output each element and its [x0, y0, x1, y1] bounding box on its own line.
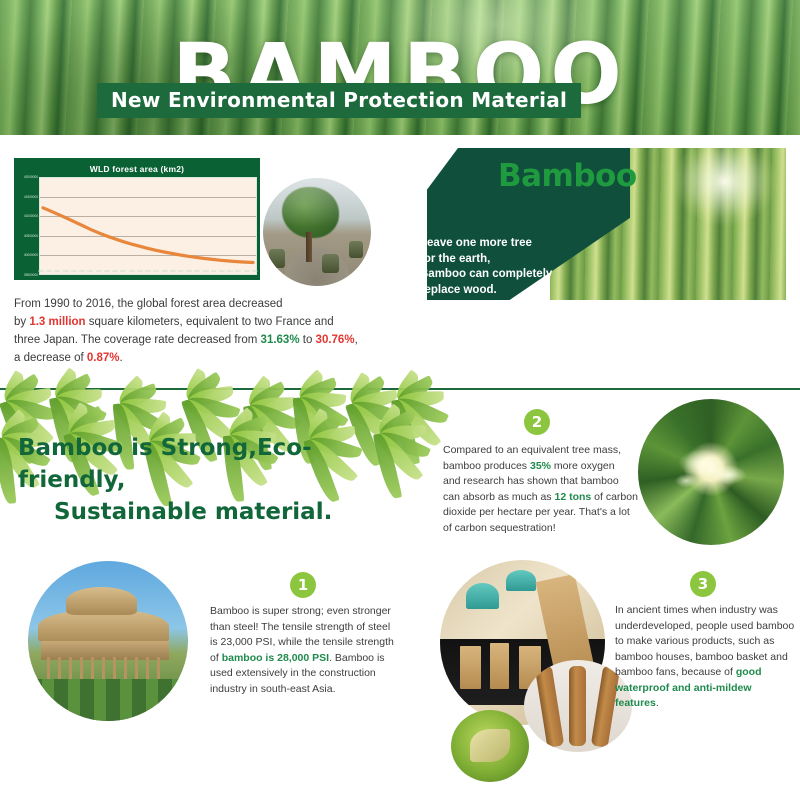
bamboo-leaf [398, 391, 444, 407]
para-line-3-pre: three Japan. The coverage rate decreased… [14, 334, 261, 346]
chart-x-tick: 2010 [203, 270, 208, 273]
forest-loss-section: WLD forest area (km2) 420000004150000041… [0, 135, 800, 380]
b1-l3: is 23,000 PSI, while the tensile strengt… [210, 636, 394, 648]
highlight-good: good [736, 666, 762, 678]
b3-l1: In ancient times when industry was [615, 604, 778, 616]
stat-co2: 12 tons [554, 491, 591, 503]
chart-x-tick: 2014 [236, 270, 241, 273]
chart-y-tick: 41000000 [24, 214, 38, 218]
bamboo-house-image [28, 561, 188, 721]
chart-x-tick: 1992 [55, 270, 60, 273]
bamboo-leaf [348, 376, 389, 410]
chart-x-axis: 1990199119921993199419951996199719981999… [37, 269, 259, 280]
bamboo-leaf [4, 394, 59, 425]
b2-l2b: more oxygen [551, 460, 615, 472]
infographic-page: BAMBOO New Environmental Protection Mate… [0, 0, 800, 800]
forest-loss-paragraph: From 1990 to 2016, the global forest are… [14, 295, 404, 367]
chart-y-tick: 40000000 [24, 253, 38, 257]
chart-x-tick: 2016 [252, 270, 257, 273]
bamboo-leaf [244, 376, 275, 411]
banner-line-2: for the earth, [420, 253, 490, 265]
para-line-1: From 1990 to 2016, the global forest are… [14, 298, 283, 310]
chart-x-tick: 2001 [129, 270, 134, 273]
stat-decrease: 0.87% [87, 352, 120, 364]
b3-l2: underdeveloped, people used bamboo [615, 620, 794, 632]
b2-l4a: can absorb as much as [443, 491, 554, 503]
stat-million: 1.3 million [29, 316, 85, 328]
b1-l4b: . Bamboo is [329, 652, 384, 664]
b1-l6: industry in south-east Asia. [210, 683, 335, 695]
para-line-3-mid: to [300, 334, 316, 346]
chart-x-tick: 2013 [227, 270, 232, 273]
chart-x-tick: 1991 [46, 270, 51, 273]
b2-l1: Compared to an equivalent tree mass, [443, 444, 621, 456]
chart-x-tick: 2009 [195, 270, 200, 273]
bamboo-leaf [250, 397, 296, 413]
b2-l6: of carbon sequestration! [443, 522, 556, 534]
chart-x-tick: 2007 [178, 270, 183, 273]
bamboo-cane [535, 665, 564, 748]
chart-x-tick: 1990 [38, 270, 43, 273]
headline-line-2: Sustainable material. [18, 496, 408, 528]
chart-line-series [40, 178, 256, 274]
b3-l3: to make various products, such as [615, 635, 774, 647]
bamboo-leaf [119, 396, 166, 416]
bamboo-leaf [247, 381, 288, 412]
woven-basket [466, 583, 499, 609]
replace-wood-banner: Bamboo Leave one more tree for the earth… [415, 148, 786, 300]
banner-line-1: Leave one more tree [420, 237, 532, 249]
chart-x-tick: 1999 [112, 270, 117, 273]
bamboo-leaf [0, 437, 16, 505]
bamboo-leaf [186, 392, 241, 423]
chart-x-tick: 2012 [219, 270, 224, 273]
bamboo-box [490, 643, 510, 689]
bamboo-leaf [115, 375, 148, 408]
para-line-4-pre: a decrease of [14, 352, 87, 364]
chart-y-tick: 39500000 [24, 273, 38, 277]
bamboo-box [460, 646, 481, 689]
para-line-2-post: square kilometers, equivalent to two Fra… [86, 316, 334, 328]
chart-x-tick: 2004 [153, 270, 158, 273]
bamboo-cane [569, 666, 586, 747]
woven-basket [506, 570, 536, 591]
b3-l5a: bamboo fans, because of [615, 666, 736, 678]
number-badge-1: 1 [290, 572, 316, 598]
bamboo-canopy-image [638, 399, 784, 545]
bamboo-leaf [247, 399, 301, 435]
chart-x-tick: 1997 [96, 270, 101, 273]
chart-body: 4200000041500000410000004050000040000000… [17, 177, 257, 275]
bamboo-leaf [351, 390, 398, 411]
b3-l4: bamboo houses, bamboo basket and [615, 651, 788, 663]
b1-l1: Bamboo is super strong; even stronger [210, 605, 391, 617]
banner-bamboo-word: Bamboo [498, 158, 637, 194]
stat-coverage-to: 30.76% [316, 334, 355, 346]
block-2-text: Compared to an equivalent tree mass, bam… [443, 443, 639, 536]
chart-x-tick: 2003 [145, 270, 150, 273]
b1-l4a: of [210, 652, 222, 664]
section-headline: Bamboo is Strong,Eco-friendly, Sustainab… [18, 432, 408, 528]
highlight-waterproof: waterproof and anti-mildew features [615, 682, 752, 710]
lone-tree-image [263, 178, 371, 286]
para-line-2-pre: by [14, 316, 29, 328]
chart-x-tick: 2008 [186, 270, 191, 273]
chart-y-axis: 4200000041500000410000004050000040000000… [17, 177, 39, 275]
chart-plot-area [39, 177, 257, 275]
chart-y-tick: 40500000 [24, 234, 38, 238]
para-line-3-post: , [355, 334, 358, 346]
garden-hedge [28, 679, 188, 721]
chart-y-tick: 41500000 [24, 195, 38, 199]
image-haze-overlay [263, 178, 371, 286]
chart-x-tick: 2006 [170, 270, 175, 273]
chart-x-tick: 1995 [79, 270, 84, 273]
chart-x-tick: 2000 [120, 270, 125, 273]
block-3-text: In ancient times when industry was under… [615, 603, 797, 712]
banner-line-4: replace wood. [420, 284, 497, 296]
chart-title: WLD forest area (km2) [17, 161, 257, 177]
bamboo-leaf [56, 389, 102, 405]
banner-line-3: Bamboo can completely [420, 268, 552, 280]
b2-l3: and research has shown that bamboo [443, 475, 619, 487]
bamboo-leaf [350, 396, 405, 427]
chart-x-tick: 2011 [211, 270, 216, 273]
chart-x-tick: 2005 [162, 270, 167, 273]
bamboo-leaf [53, 391, 107, 427]
number-badge-3: 3 [690, 571, 716, 597]
house-roof-upper [66, 587, 136, 616]
chart-y-tick: 42000000 [24, 175, 38, 179]
chart-x-tick: 1998 [104, 270, 109, 273]
bamboo-leaf [5, 388, 52, 409]
chart-x-tick: 2015 [244, 270, 249, 273]
b3-l6b: . [656, 697, 659, 709]
chart-x-tick: 2002 [137, 270, 142, 273]
shoot-body [470, 729, 511, 762]
hero-banner: BAMBOO New Environmental Protection Mate… [0, 0, 800, 135]
number-badge-2: 2 [524, 409, 550, 435]
bamboo-leaf [299, 390, 346, 410]
bamboo-leaf [395, 393, 449, 429]
headline-line-1: Bamboo is Strong,Eco-friendly, [18, 435, 312, 493]
bamboo-shoot-image [451, 710, 529, 782]
b1-l5: used extensively in the construction [210, 667, 376, 679]
para-line-4-post: . [120, 352, 123, 364]
b2-l2a: bamboo produces [443, 460, 530, 472]
chart-x-tick: 1993 [63, 270, 68, 273]
bamboo-leaf [297, 377, 339, 404]
b2-l5: dioxide per hectare per year. That's a l… [443, 506, 630, 518]
chart-x-tick: 1996 [88, 270, 93, 273]
forest-area-chart: WLD forest area (km2) 420000004150000041… [14, 158, 260, 280]
bamboo-leaf [296, 391, 349, 432]
b2-l4b: of carbon [591, 491, 638, 503]
hero-subtitle-ribbon: New Environmental Protection Material [97, 83, 581, 118]
chart-x-tick: 1994 [71, 270, 76, 273]
b1-l2: than steel! The tensile strength of stee… [210, 621, 390, 633]
block-1-text: Bamboo is super strong; even stronger th… [210, 604, 406, 697]
banner-message: Leave one more tree for the earth, Bambo… [415, 236, 620, 298]
stat-oxygen: 35% [530, 460, 551, 472]
stat-tensile-strength: bamboo is 28,000 PSI [222, 652, 329, 664]
stat-coverage-from: 31.63% [261, 334, 300, 346]
